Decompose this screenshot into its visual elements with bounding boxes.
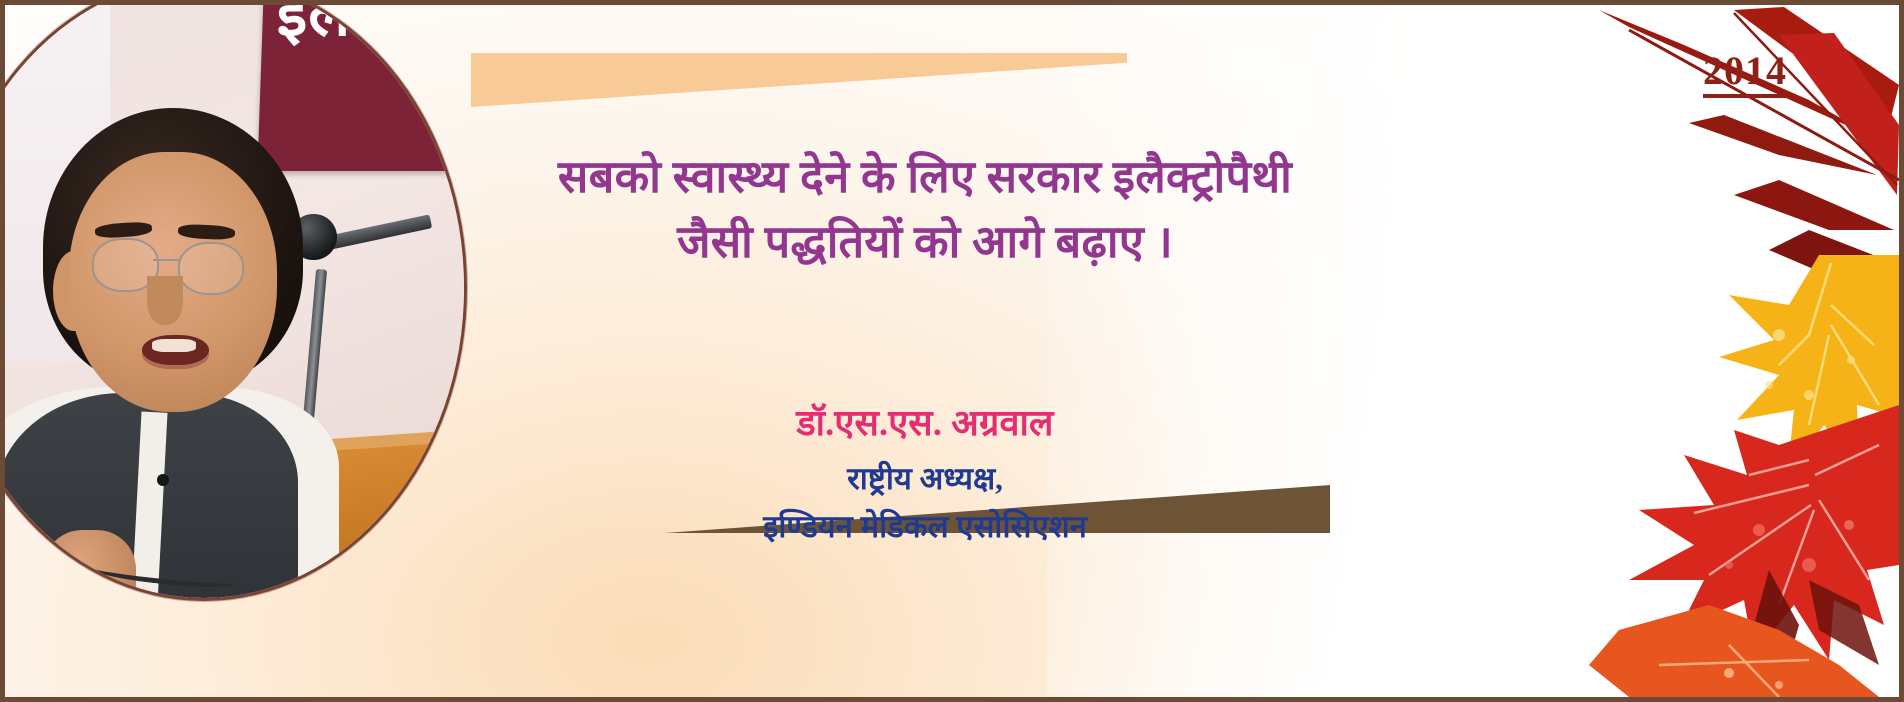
headline-line-2: जैसी पद्धतियों को आगे बढ़ाए । — [445, 210, 1405, 275]
photo-eyeglass-bridge — [153, 259, 180, 261]
quote-banner: इलेक्ट्र — [0, 0, 1904, 702]
year-label: 2014 — [1703, 50, 1787, 98]
speaker-photo: इलेक्ट्र — [0, 0, 467, 601]
headline-line-1: सबको स्वास्थ्य देने के लिए सरकार इलैक्ट्… — [445, 145, 1405, 210]
photo-ring — [58, 567, 74, 582]
photo-eyeglass-right — [178, 242, 244, 296]
photo-backdrop-banner-text: इलेक्ट्र — [277, 0, 419, 46]
photo-nose — [147, 276, 183, 326]
speaker-role: राष्ट्रीय अध्यक्ष, — [445, 457, 1405, 499]
autumn-leaves-decoration — [1479, 5, 1899, 697]
photo-teeth — [152, 339, 196, 353]
headline-quote: सबको स्वास्थ्य देने के लिए सरकार इलैक्ट्… — [445, 145, 1405, 276]
speaker-name: डॉ.एस.एस. अग्रवाल — [445, 397, 1405, 446]
leaves-svg — [1479, 5, 1899, 697]
speaker-organization: इण्डियन मेडिकल एसोसिएशन — [445, 505, 1405, 547]
